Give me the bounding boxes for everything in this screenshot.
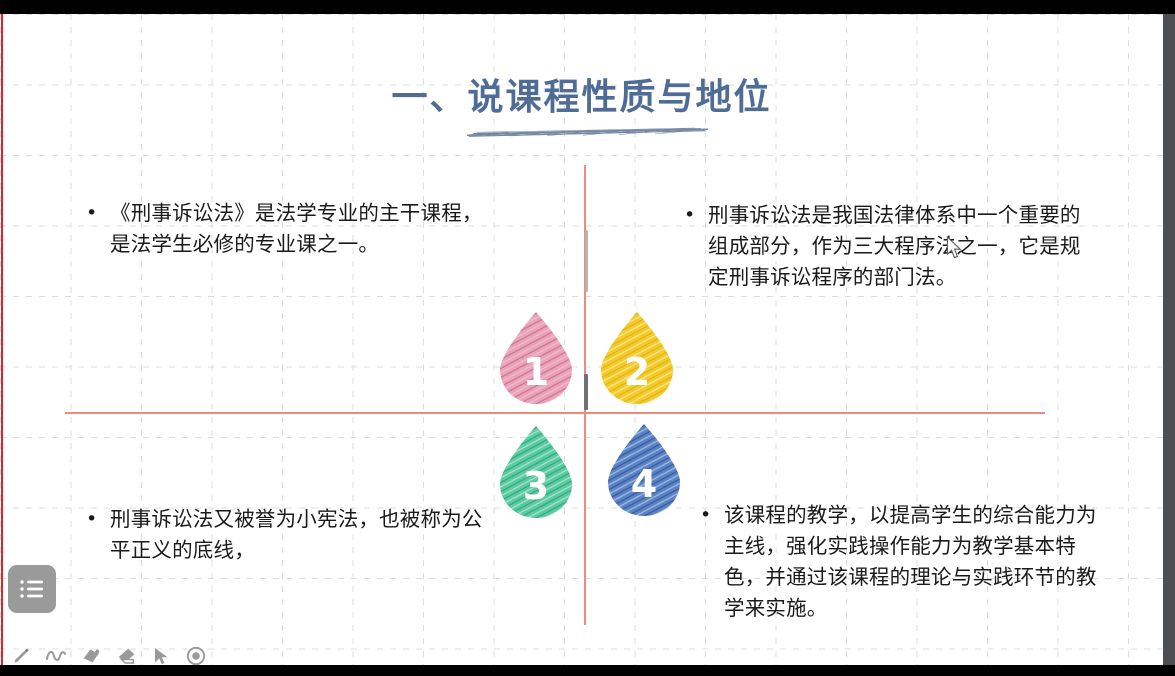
- right-edge-strip[interactable]: [1163, 14, 1175, 665]
- list-menu-icon: [19, 579, 45, 599]
- pointer-icon: [150, 645, 172, 665]
- annotation-mark-upper: [585, 230, 588, 292]
- quadrant-text-3: • 刑事诉讼法又被誉为小宪法，也被称为公平正义的底线，: [86, 504, 486, 566]
- quadrant-divider-horizontal: [65, 412, 1045, 414]
- tool-laser[interactable]: [185, 645, 207, 665]
- bullet-marker-1: •: [86, 198, 110, 229]
- shape-icon: [80, 645, 102, 665]
- tool-shape[interactable]: [80, 645, 102, 665]
- tool-pencil[interactable]: [10, 645, 32, 665]
- pencil-icon: [10, 645, 32, 665]
- annotation-mark-lower: [584, 374, 588, 410]
- quadrant-text-4: • 该课程的教学，以提高学生的综合能力为主线，强化实践操作能力为教学基本特色，并…: [700, 500, 1100, 624]
- droplet-badge-3[interactable]: 3: [494, 422, 578, 518]
- screen: 一、说课程性质与地位: [0, 0, 1175, 676]
- quadrant-text-1-body: 《刑事诉讼法》是法学专业的主干课程，是法学生必修的专业课之一。: [110, 198, 486, 260]
- droplet-badge-4[interactable]: 4: [602, 420, 686, 516]
- annotation-toolbar: [10, 645, 207, 665]
- letterbox-bottom: [0, 665, 1175, 676]
- curve-line-icon: [45, 645, 67, 665]
- droplet-number-2: 2: [595, 352, 679, 392]
- quadrant-text-3-body: 刑事诉讼法又被誉为小宪法，也被称为公平正义的底线，: [110, 504, 486, 566]
- bullet-marker-3: •: [86, 504, 110, 535]
- eraser-icon: [115, 645, 137, 665]
- droplet-badge-2[interactable]: 2: [595, 308, 679, 404]
- title-underline-brushstroke: [465, 126, 710, 139]
- droplet-number-1: 1: [494, 352, 578, 392]
- mouse-cursor-icon: [946, 236, 962, 260]
- slide-canvas[interactable]: 一、说课程性质与地位: [0, 14, 1175, 665]
- bullet-marker-2: •: [684, 200, 708, 231]
- droplet-number-4: 4: [602, 464, 686, 504]
- quadrant-text-2: • 刑事诉讼法是我国法律体系中一个重要的组成部分，作为三大程序法之一，它是规定刑…: [684, 200, 1094, 293]
- droplet-badge-1[interactable]: 1: [494, 308, 578, 404]
- droplet-number-3: 3: [494, 466, 578, 506]
- tool-curve[interactable]: [45, 645, 67, 665]
- quadrant-text-2-body: 刑事诉讼法是我国法律体系中一个重要的组成部分，作为三大程序法之一，它是规定刑事诉…: [708, 200, 1094, 293]
- letterbox-top: [0, 0, 1175, 14]
- slide-title-wrap: 一、说课程性质与地位: [0, 68, 1163, 120]
- laser-dot-icon: [185, 645, 207, 665]
- page-title: 一、说课程性质与地位: [391, 68, 771, 120]
- tool-eraser[interactable]: [115, 645, 137, 665]
- quadrant-text-4-body: 该课程的教学，以提高学生的综合能力为主线，强化实践操作能力为教学基本特色，并通过…: [724, 500, 1100, 624]
- bullet-marker-4: •: [700, 500, 724, 531]
- tool-pointer[interactable]: [150, 645, 172, 665]
- list-menu-button[interactable]: [8, 565, 56, 613]
- quadrant-text-1: • 《刑事诉讼法》是法学专业的主干课程，是法学生必修的专业课之一。: [86, 198, 486, 260]
